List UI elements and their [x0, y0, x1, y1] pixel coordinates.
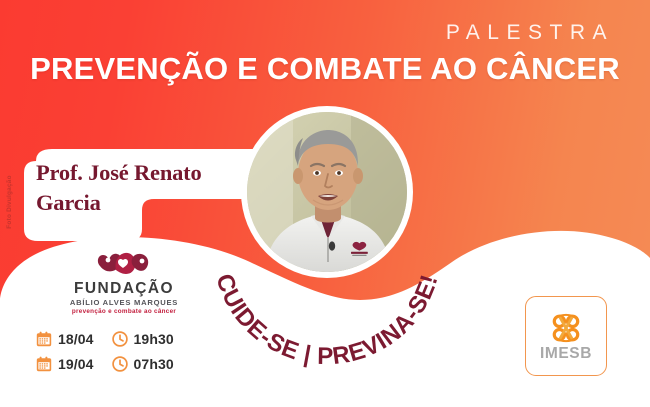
imesb-wordmark: IMESB — [540, 346, 592, 362]
fundacao-tagline: prevenção e combate ao câncer — [62, 309, 186, 315]
page-title: PREVENÇÃO E COMBATE AO CÂNCER — [0, 52, 650, 86]
imesb-logo-box: IMESB — [525, 296, 607, 376]
eyebrow-label: PALESTRA — [446, 22, 614, 43]
fundacao-name: FUNDAÇÃO — [62, 281, 186, 297]
speaker-portrait-photo — [247, 112, 407, 272]
speaker-photo-ring — [241, 106, 413, 278]
clock-icon — [112, 356, 128, 372]
imesb-knot-icon — [547, 311, 585, 345]
schedule-time: 19h30 — [134, 332, 174, 346]
schedule-date: 18/04 — [58, 332, 94, 346]
schedule-row: 18/04 19h30 — [36, 328, 174, 350]
fundacao-hearts-emblem-icon — [92, 250, 156, 278]
schedule-time: 07h30 — [134, 357, 174, 371]
speaker-name-line1: Prof. José Renato — [36, 160, 202, 185]
speaker-name: Prof. José Renato Garcia — [36, 158, 266, 217]
calendar-icon — [36, 331, 52, 347]
calendar-icon — [36, 356, 52, 372]
clock-icon — [112, 331, 128, 347]
schedule-date: 19/04 — [58, 357, 94, 371]
fundacao-logo: FUNDAÇÃO ABÍLIO ALVES MARQUES prevenção … — [62, 250, 186, 315]
photo-credit-label: Foto Divulgação — [6, 166, 13, 238]
fundacao-subtitle: ABÍLIO ALVES MARQUES — [62, 299, 186, 307]
schedule-list: 18/04 19h30 — [36, 328, 174, 378]
poster-root: PALESTRA PREVENÇÃO E COMBATE AO CÂNCER P… — [0, 0, 650, 407]
schedule-row: 19/04 07h30 — [36, 353, 174, 375]
speaker-name-line2: Garcia — [36, 188, 266, 218]
